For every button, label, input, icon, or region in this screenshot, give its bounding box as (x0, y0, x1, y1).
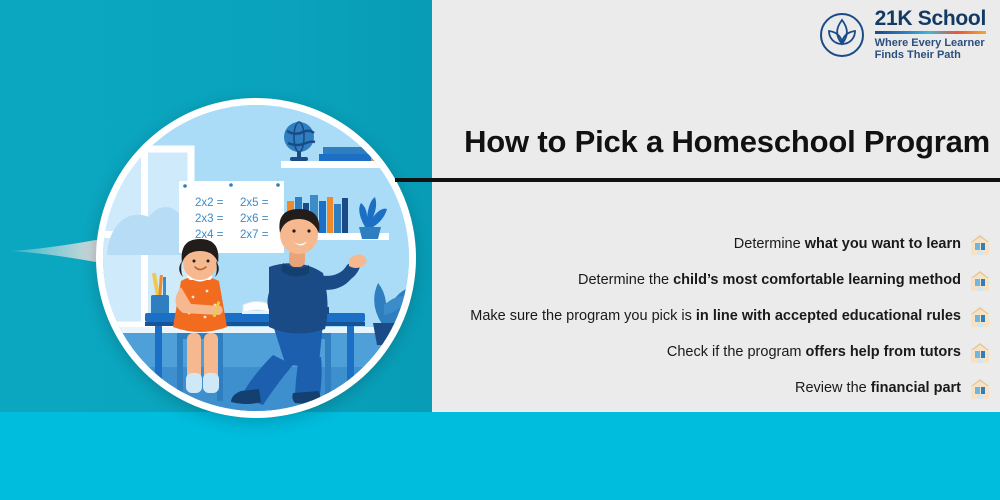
bottom-cyan-band-left (0, 412, 432, 500)
title-divider (395, 178, 1000, 182)
home-school-icon (970, 342, 990, 364)
list-item-bold: financial part (871, 380, 961, 396)
home-school-icon (970, 270, 990, 292)
lotus-circle-icon (818, 11, 866, 59)
list-item-plain: Make sure the program you pick is (470, 308, 696, 324)
logo-name: 21K School (875, 8, 986, 29)
svg-text:2x6 =: 2x6 = (240, 213, 269, 225)
logo-text: 21K School Where Every Learner Finds The… (875, 8, 986, 62)
list-item-text: Review the financial part (795, 380, 961, 397)
list-item-text: Determine what you want to learn (734, 236, 961, 253)
svg-text:2x7 =: 2x7 = (240, 229, 269, 241)
list-item-bold: what you want to learn (805, 236, 961, 252)
list-item: Make sure the program you pick is in lin… (420, 300, 990, 333)
svg-text:2x5 =: 2x5 = (240, 197, 269, 209)
list-item-plain: Review the (795, 380, 871, 396)
page-title: How to Pick a Homeschool Program (400, 124, 990, 160)
list-item: Determine what you want to learn (420, 228, 990, 261)
list-item-text: Check if the program offers help from tu… (667, 344, 961, 361)
list-item: Determine the child’s most comfortable l… (420, 264, 990, 297)
home-school-icon (970, 234, 990, 256)
list-item-bold: offers help from tutors (806, 344, 961, 360)
list-item: Check if the program offers help from tu… (420, 336, 990, 369)
list-item-bold: child’s most comfortable learning method (673, 272, 961, 288)
svg-text:2x2 =: 2x2 = (195, 197, 224, 209)
home-school-icon (970, 378, 990, 400)
logo-tagline-line2: Finds Their Path (875, 49, 986, 62)
list-item: Review the financial part (420, 372, 990, 405)
logo-tagline-line1: Where Every Learner (875, 37, 986, 50)
logo-gradient-underline (875, 31, 986, 34)
svg-text:2x3 =: 2x3 = (195, 213, 224, 225)
tutor-and-student-illustration: 2x2 = 2x3 = 2x4 = 2x5 = 2x6 = 2x7 = (103, 105, 409, 411)
home-school-icon (970, 306, 990, 328)
list-item-plain: Determine the (578, 272, 673, 288)
list-item-text: Determine the child’s most comfortable l… (578, 272, 961, 289)
tips-list: Determine what you want to learn Determi… (420, 228, 990, 408)
infographic-canvas: 2x2 = 2x3 = 2x4 = 2x5 = 2x6 = 2x7 = (0, 0, 1000, 500)
list-item-plain: Determine (734, 236, 805, 252)
page-title-block: How to Pick a Homeschool Program (400, 124, 990, 160)
list-item-text: Make sure the program you pick is in lin… (470, 308, 961, 325)
illustration-clip: 2x2 = 2x3 = 2x4 = 2x5 = 2x6 = 2x7 = (103, 105, 409, 411)
list-item-bold: in line with accepted educational rules (696, 308, 961, 324)
list-item-plain: Check if the program (667, 344, 806, 360)
illustration-circle: 2x2 = 2x3 = 2x4 = 2x5 = 2x6 = 2x7 = (96, 98, 416, 418)
brand-logo[interactable]: 21K School Where Every Learner Finds The… (818, 8, 986, 62)
